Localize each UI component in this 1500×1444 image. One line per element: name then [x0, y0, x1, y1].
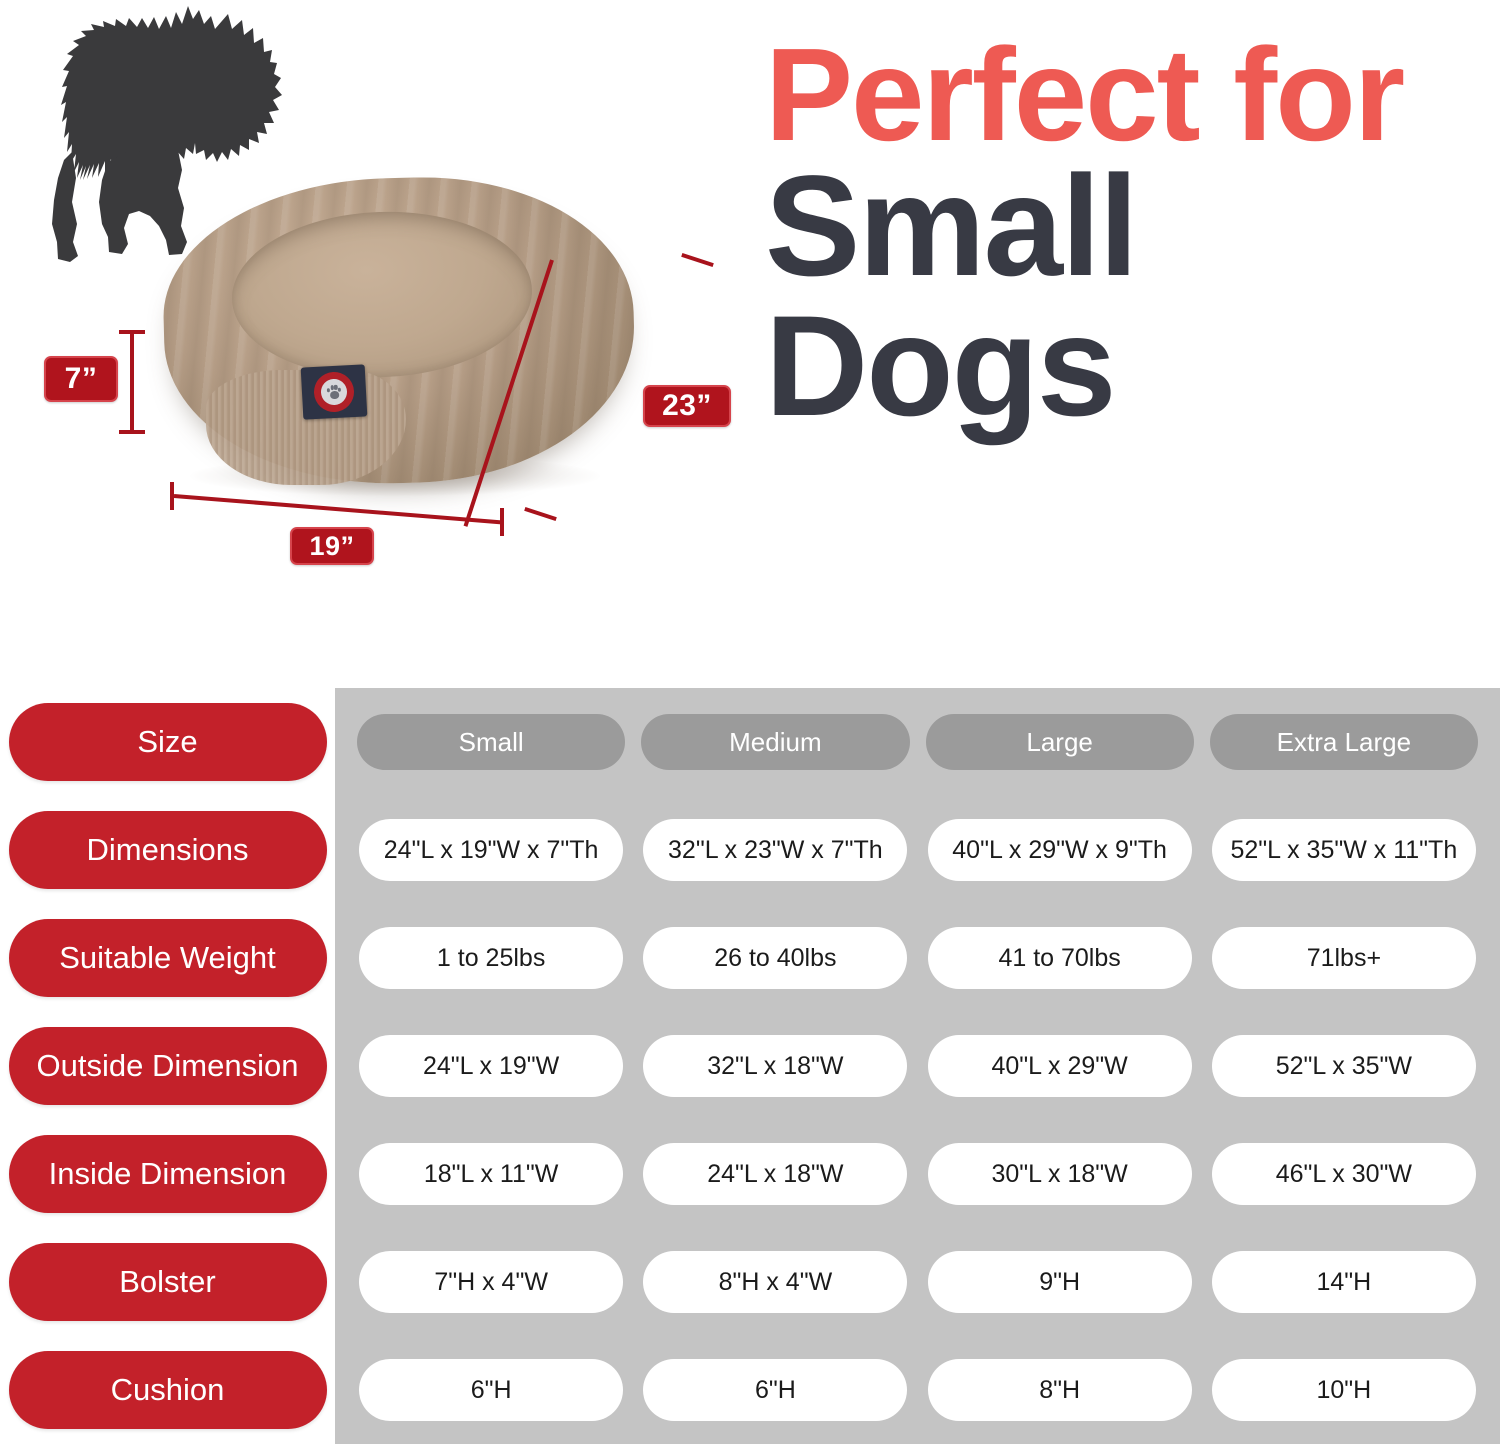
spec-cell: 1 to 25lbs: [349, 927, 633, 989]
spec-table-row: 18"L x 11"W 24"L x 18"W 30"L x 18"W 46"L…: [335, 1120, 1500, 1228]
majestic-pet-brand-tag: [301, 364, 368, 419]
value-cushion-large: 8"H: [928, 1359, 1192, 1421]
spec-cell: 6"H: [349, 1359, 633, 1421]
spec-table-row: 24"L x 19"W x 7"Th 32"L x 23"W x 7"Th 40…: [335, 796, 1500, 904]
brand-disc: [320, 378, 347, 405]
value-weight-extra-large: 71lbs+: [1212, 927, 1476, 989]
spec-cell: 40"L x 29"W x 9"Th: [918, 819, 1202, 881]
width-dimension-cap-right: [500, 508, 504, 536]
spec-cell: 24"L x 19"W: [349, 1035, 633, 1097]
spec-cell: 14"H: [1202, 1251, 1486, 1313]
spec-cell: 8"H x 4"W: [633, 1251, 917, 1313]
spec-cell: 24"L x 19"W x 7"Th: [349, 819, 633, 881]
value-outside-medium: 32"L x 18"W: [643, 1035, 907, 1097]
value-dimensions-extra-large: 52"L x 35"W x 11"Th: [1212, 819, 1476, 881]
value-bolster-medium: 8"H x 4"W: [643, 1251, 907, 1313]
spec-cell: 41 to 70lbs: [918, 927, 1202, 989]
value-bolster-small: 7"H x 4"W: [359, 1251, 623, 1313]
spec-table-section: Size Small Medium Large Extra Large Dime…: [0, 668, 1500, 1444]
spec-cell: 24"L x 18"W: [633, 1143, 917, 1205]
value-inside-extra-large: 46"L x 30"W: [1212, 1143, 1476, 1205]
spec-cell: 46"L x 30"W: [1202, 1143, 1486, 1205]
spec-cell: 8"H: [918, 1359, 1202, 1421]
spec-cell: 18"L x 11"W: [349, 1143, 633, 1205]
column-header-small: Small: [357, 714, 625, 770]
spec-row-label-outside-dimension: Outside Dimension: [0, 1012, 335, 1120]
spec-row-label-suitable-weight: Suitable Weight: [0, 904, 335, 1012]
spec-cell: 32"L x 23"W x 7"Th: [633, 819, 917, 881]
spec-table-row: 6"H 6"H 8"H 10"H: [335, 1336, 1500, 1444]
spec-header-cell: Extra Large: [1202, 714, 1486, 770]
value-cushion-medium: 6"H: [643, 1359, 907, 1421]
value-bolster-large: 9"H: [928, 1251, 1192, 1313]
value-inside-medium: 24"L x 18"W: [643, 1143, 907, 1205]
label-pill-outside-dimension: Outside Dimension: [9, 1027, 327, 1105]
width-dimension-line: [174, 494, 503, 524]
value-inside-small: 18"L x 11"W: [359, 1143, 623, 1205]
headline-line-3: Dogs: [765, 301, 1495, 433]
spec-cell: 6"H: [633, 1359, 917, 1421]
hero-section: 7” 19” 23” Perfect for Small Dogs: [0, 0, 1500, 668]
spec-cell: 30"L x 18"W: [918, 1143, 1202, 1205]
length-dimension-badge: 23”: [643, 385, 731, 427]
headline: Perfect for Small Dogs: [765, 34, 1495, 433]
spec-cell: 32"L x 18"W: [633, 1035, 917, 1097]
label-pill-size: Size: [9, 703, 327, 781]
column-header-medium: Medium: [641, 714, 909, 770]
value-cushion-small: 6"H: [359, 1359, 623, 1421]
width-dimension-badge: 19”: [290, 527, 374, 565]
headline-line-2: Small: [765, 161, 1495, 293]
length-dimension-cap-top: [681, 253, 714, 267]
spec-cell: 40"L x 29"W: [918, 1035, 1202, 1097]
spec-cell: 9"H: [918, 1251, 1202, 1313]
spec-table-row: 24"L x 19"W 32"L x 18"W 40"L x 29"W 52"L…: [335, 1012, 1500, 1120]
height-dimension-cap-bottom: [119, 430, 145, 434]
value-inside-large: 30"L x 18"W: [928, 1143, 1192, 1205]
headline-line-1: Perfect for: [765, 34, 1495, 155]
spec-row-label-dimensions: Dimensions: [0, 796, 335, 904]
value-dimensions-medium: 32"L x 23"W x 7"Th: [643, 819, 907, 881]
paw-print-icon: [326, 384, 343, 400]
value-outside-small: 24"L x 19"W: [359, 1035, 623, 1097]
column-header-extra-large: Extra Large: [1210, 714, 1478, 770]
value-bolster-extra-large: 14"H: [1212, 1251, 1476, 1313]
spec-cell: 26 to 40lbs: [633, 927, 917, 989]
spec-row-label-bolster: Bolster: [0, 1228, 335, 1336]
height-dimension-cap-top: [119, 330, 145, 334]
spec-cell: 52"L x 35"W: [1202, 1035, 1486, 1097]
spec-cell: 7"H x 4"W: [349, 1251, 633, 1313]
spec-cell: 71lbs+: [1202, 927, 1486, 989]
spec-header-cell: Medium: [633, 714, 917, 770]
spec-row-label-inside-dimension: Inside Dimension: [0, 1120, 335, 1228]
product-infographic: 7” 19” 23” Perfect for Small Dogs Size: [0, 0, 1500, 1444]
spec-table-grid: Size Small Medium Large Extra Large Dime…: [0, 688, 1500, 1444]
label-pill-dimensions: Dimensions: [9, 811, 327, 889]
value-outside-extra-large: 52"L x 35"W: [1212, 1035, 1476, 1097]
spec-header-cell: Small: [349, 714, 633, 770]
spec-header-cell: Large: [918, 714, 1202, 770]
value-dimensions-small: 24"L x 19"W x 7"Th: [359, 819, 623, 881]
spec-cell: 10"H: [1202, 1359, 1486, 1421]
column-header-large: Large: [926, 714, 1194, 770]
spec-table-row: 1 to 25lbs 26 to 40lbs 41 to 70lbs 71lbs…: [335, 904, 1500, 1012]
height-dimension-badge: 7”: [44, 356, 118, 402]
spec-row-label-cushion: Cushion: [0, 1336, 335, 1444]
label-pill-cushion: Cushion: [9, 1351, 327, 1429]
spec-row-label-size: Size: [0, 688, 335, 796]
value-weight-medium: 26 to 40lbs: [643, 927, 907, 989]
value-cushion-extra-large: 10"H: [1212, 1359, 1476, 1421]
length-dimension-cap-bottom: [524, 507, 557, 521]
brand-ring: [313, 371, 355, 413]
value-weight-large: 41 to 70lbs: [928, 927, 1192, 989]
spec-table-row: 7"H x 4"W 8"H x 4"W 9"H 14"H: [335, 1228, 1500, 1336]
label-pill-inside-dimension: Inside Dimension: [9, 1135, 327, 1213]
spec-cell: 52"L x 35"W x 11"Th: [1202, 819, 1486, 881]
label-pill-bolster: Bolster: [9, 1243, 327, 1321]
value-outside-large: 40"L x 29"W: [928, 1035, 1192, 1097]
value-dimensions-large: 40"L x 29"W x 9"Th: [928, 819, 1192, 881]
label-pill-suitable-weight: Suitable Weight: [9, 919, 327, 997]
spec-header-row: Small Medium Large Extra Large: [335, 688, 1500, 796]
value-weight-small: 1 to 25lbs: [359, 927, 623, 989]
height-dimension-line: [130, 330, 134, 434]
